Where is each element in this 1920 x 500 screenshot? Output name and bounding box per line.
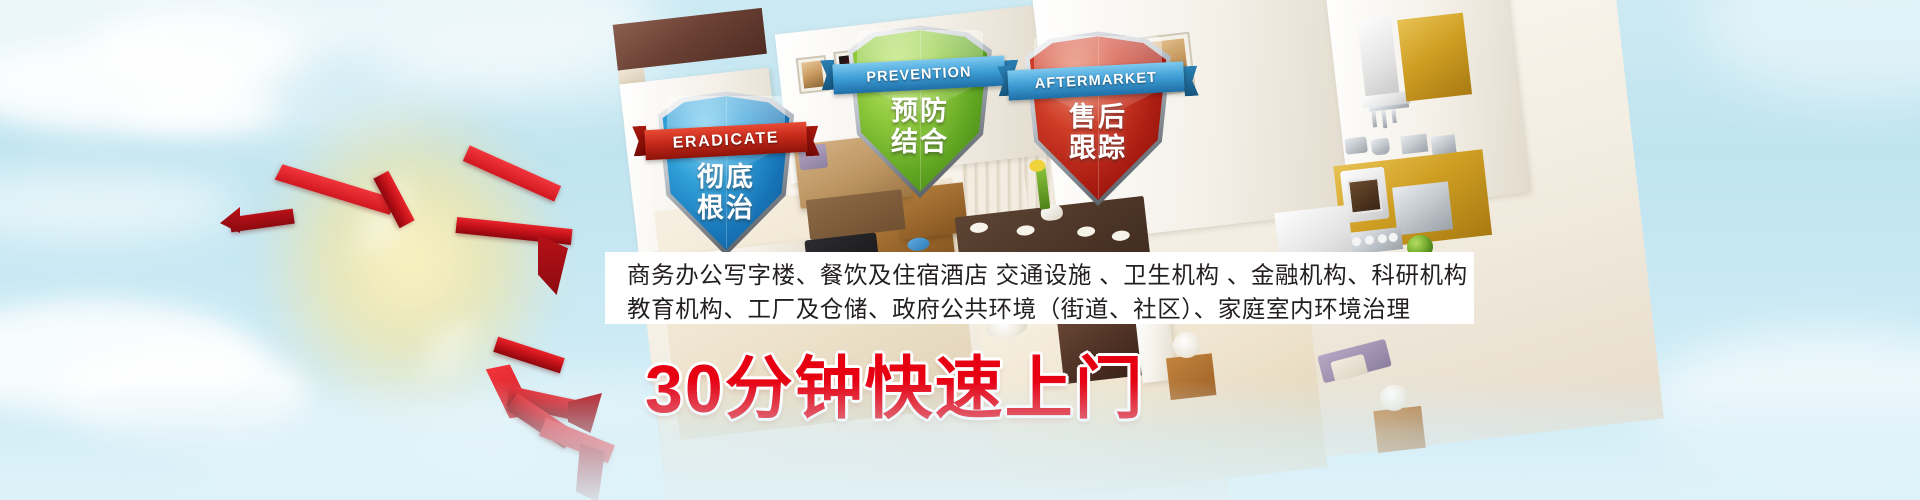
promotional-banner: 3 ERADICATE 彻底 根治: [0, 0, 1920, 500]
badge-cn-line1: 彻底: [655, 162, 797, 193]
badge-cn-line2: 根治: [655, 193, 797, 224]
badge-prevention[interactable]: PREVENTION 预防 结合: [845, 22, 995, 198]
badge-cn-line1: 预防: [845, 96, 995, 127]
service-scope-line-1: 商务办公写字楼、餐饮及住宿酒店 交通设施 、卫生机构 、金融机构、科研机构: [627, 264, 1468, 288]
badge-chinese-text: 售后 跟踪: [1022, 102, 1174, 164]
badge-cn-line1: 售后: [1022, 102, 1174, 133]
badge-aftermarket[interactable]: AFTERMARKET 售后 跟踪: [1022, 28, 1174, 206]
badge-cn-line2: 跟踪: [1022, 133, 1174, 164]
cloud-shape: [1640, 330, 1920, 490]
badge-sash-label: ERADICATE: [672, 129, 779, 153]
kitchen-appliance: [1400, 134, 1428, 155]
numeral-3: 3: [250, 53, 508, 433]
badge-cn-line2: 结合: [845, 127, 995, 158]
golden-numeral-graphic: 3: [250, 95, 580, 425]
badge-sash-label: AFTERMARKET: [1034, 70, 1157, 92]
cooktop-burner: [1377, 234, 1387, 244]
wall-art-canvas: [801, 61, 824, 89]
badge-chinese-text: 彻底 根治: [655, 162, 797, 224]
kitchen-upper-cabinets: [1397, 13, 1472, 102]
kitchen-kettle: [1371, 138, 1391, 156]
badge-eradicate[interactable]: ERADICATE 彻底 根治: [655, 88, 797, 256]
service-scope-panel: 商务办公写字楼、餐饮及住宿酒店 交通设施 、卫生机构 、金融机构、科研机构 教育…: [605, 252, 1474, 324]
cloud-shape: [1700, 0, 1920, 100]
service-scope-line-2: 教育机构、工厂及仓储、政府公共环境（街道、社区）、家庭室内环境治理: [627, 298, 1411, 322]
badge-chinese-text: 预防 结合: [845, 96, 995, 158]
oven-door: [1347, 177, 1383, 214]
kitchen-sink: [1392, 181, 1453, 235]
nightstand: [1373, 406, 1425, 453]
badge-sash-label: PREVENTION: [866, 64, 972, 85]
kitchen-appliance: [1344, 136, 1368, 154]
cooktop-burner: [1364, 235, 1374, 245]
cloud-shape: [0, 170, 240, 240]
headline-text: 30分钟快速上门: [645, 355, 1145, 423]
cooktop-burner: [1388, 232, 1398, 242]
cooktop-burner: [1352, 237, 1362, 247]
nightstand: [1166, 353, 1216, 400]
